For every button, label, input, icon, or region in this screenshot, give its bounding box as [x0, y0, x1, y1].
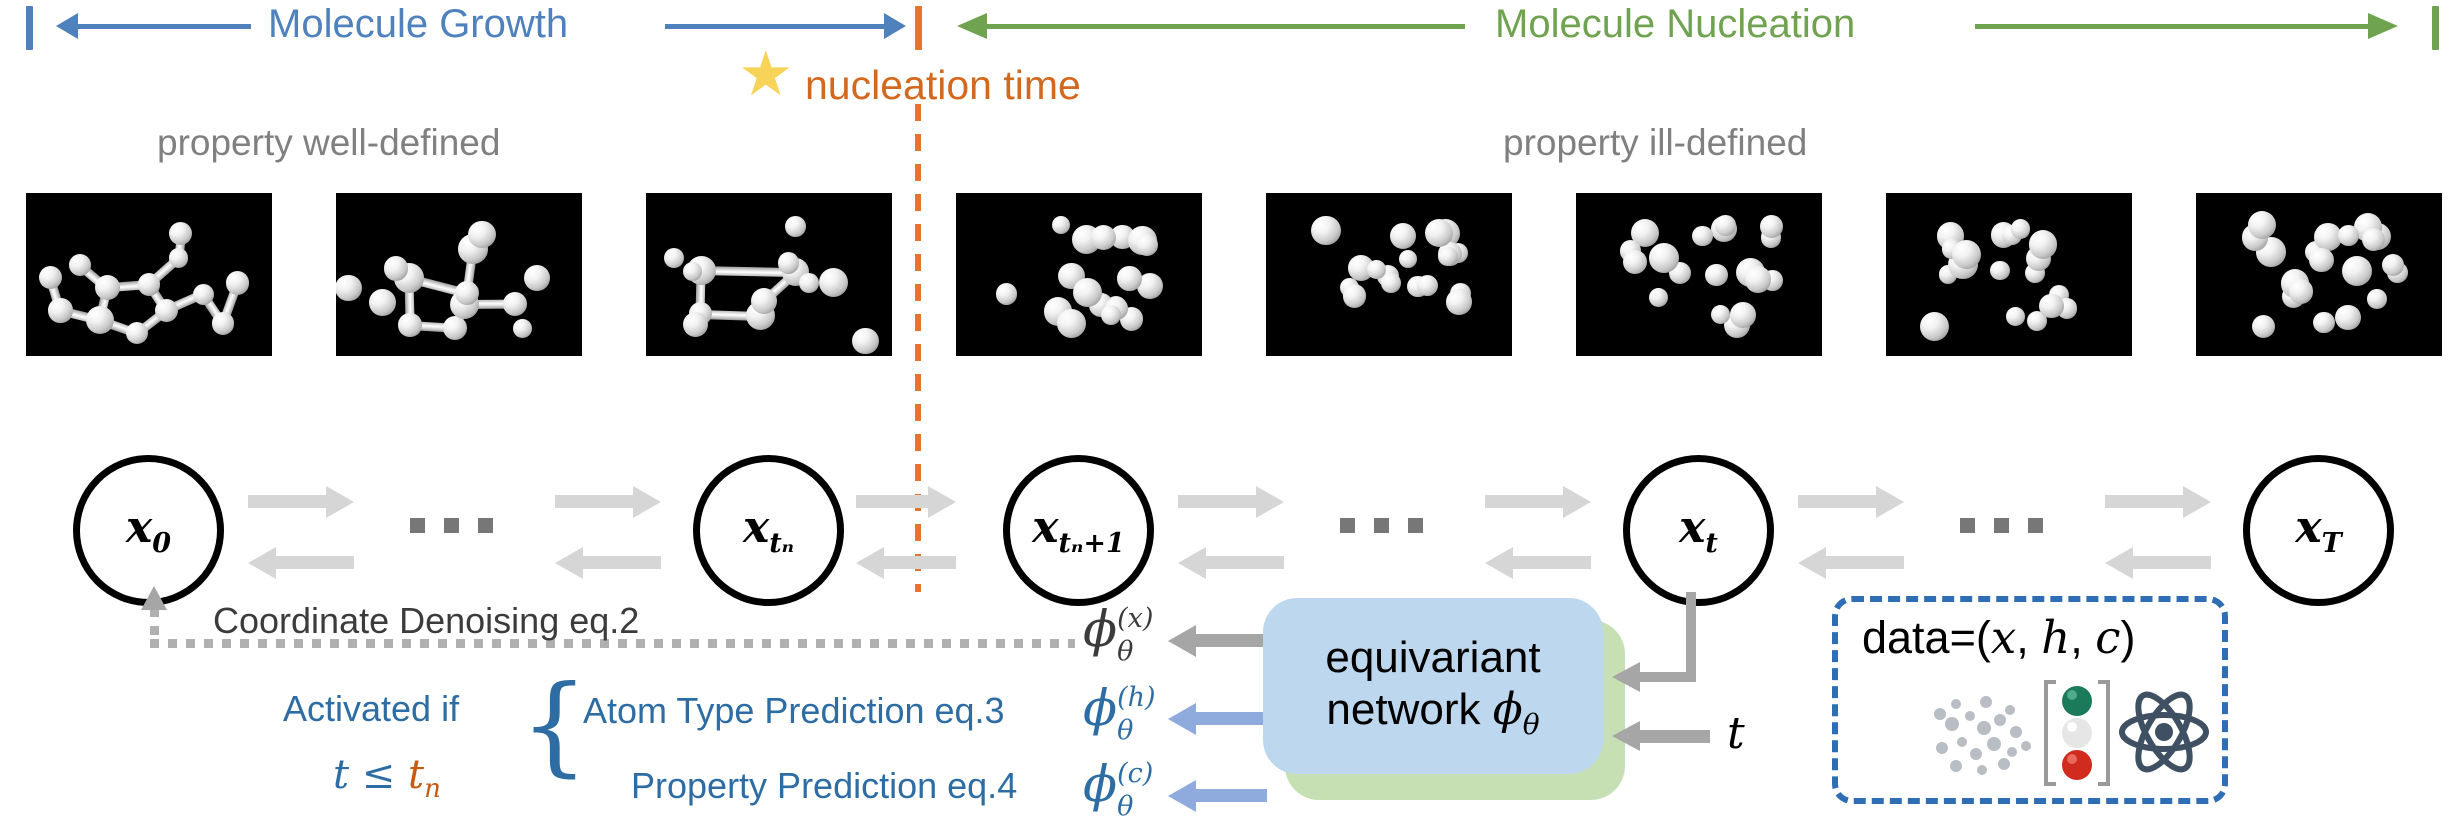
molecule-atom — [169, 248, 189, 268]
nucleation-axis-right-line — [1975, 24, 2375, 29]
data-var-h: h — [2041, 611, 2070, 664]
network-phi-symbol: ϕ — [1493, 684, 1523, 735]
output-label-coordinate-denoising: Coordinate Denoising eq.2 — [213, 600, 639, 642]
state-label-xtn1: xtₙ+1 — [1032, 502, 1124, 559]
molecule-atom — [2338, 225, 2359, 246]
arrow-xt-right-forward-head — [1876, 486, 1904, 518]
arrow-xt-left-reverse — [1513, 556, 1591, 569]
molecule-atom — [398, 313, 421, 336]
state-circle-xt[interactable]: xt — [1623, 455, 1774, 606]
molecule-panel-7 — [2196, 193, 2442, 356]
molecule-atom — [1367, 260, 1386, 279]
phi-sup-x: (x) — [1117, 605, 1153, 632]
phi-sup-h: (h) — [1117, 684, 1155, 711]
arrow-xT-left-reverse-head — [2105, 547, 2133, 579]
property-well-defined-label: property well-defined — [157, 122, 500, 164]
phi-output-property: ϕ(c)θ — [1083, 755, 1153, 824]
network-label-line2: network ϕθ — [1326, 684, 1539, 741]
molecule-atom — [138, 273, 161, 296]
molecule-atom — [1101, 305, 1121, 325]
molecule-atom — [1446, 289, 1472, 315]
molecule-atom — [2252, 315, 2275, 338]
molecule-atom — [2335, 305, 2360, 330]
phi-symbol-x: ϕ — [1083, 600, 1117, 658]
arrow-xt-right-reverse — [1826, 556, 1904, 569]
arrow-xtn1-right-reverse-head — [1178, 547, 1206, 579]
arrow-x0-right-forward-head — [326, 486, 354, 518]
growth-axis-right-arrowhead — [884, 13, 906, 39]
molecule-atom — [2367, 289, 2387, 309]
output-label-atom-type-prediction: Atom Type Prediction eq.3 — [583, 690, 1005, 732]
nucleation-time-label: nucleation time — [805, 62, 1081, 109]
arrow-xT-left-reverse — [2133, 556, 2211, 569]
output-arrowhead-property — [1168, 780, 1196, 812]
ellipsis-nucleation-right — [1960, 518, 2043, 533]
molecule-atom — [126, 322, 148, 344]
arrow-x0-right-reverse-head — [248, 547, 276, 579]
molecule-panel-2 — [646, 193, 892, 356]
data-comma-2: , — [2070, 612, 2095, 663]
molecule-atom — [2039, 294, 2063, 318]
molecule-atom — [2289, 279, 2314, 304]
molecule-atom — [1623, 250, 1647, 274]
state-circle-xtn1[interactable]: xtₙ+1 — [1003, 455, 1154, 606]
arrow-xtn-left-forward — [555, 495, 633, 508]
molecule-atom — [1990, 261, 2010, 281]
network-label-prefix: network — [1326, 685, 1492, 734]
molecule-atom — [1417, 275, 1438, 296]
molecule-atom — [2313, 312, 2335, 334]
arrow-xtn-to-xtn1-reverse-head — [856, 547, 884, 579]
molecule-atom — [785, 216, 806, 237]
arrow-xtn-to-xtn1-forward — [856, 495, 928, 508]
molecule-panel-0 — [26, 193, 272, 356]
xt-to-network-riser — [1686, 592, 1696, 682]
star-icon: ★ — [738, 44, 794, 106]
nucleation-axis-center-cap — [915, 6, 922, 50]
network-phi-sub: θ — [1523, 707, 1540, 740]
activation-label: Activated if — [283, 688, 459, 730]
molecule-atom — [1920, 312, 1949, 341]
arrow-xtn-left-forward-head — [633, 486, 661, 518]
arrow-xtn1-right-reverse — [1206, 556, 1284, 569]
network-box[interactable]: equivariant network ϕθ — [1263, 598, 1603, 774]
activation-cond-le: ≤ — [362, 752, 396, 798]
molecule-atom — [69, 254, 91, 276]
output-arrow-atomtype — [1195, 712, 1267, 725]
molecule-atom — [2006, 307, 2025, 326]
molecule-atom — [664, 248, 684, 268]
phase-label-growth: Molecule Growth — [268, 4, 568, 44]
atom-type-vector-icon — [2042, 678, 2112, 788]
molecule-atom — [86, 306, 114, 334]
molecule-atom — [2309, 248, 2333, 272]
arrow-xtn-to-xtn1-reverse — [884, 556, 956, 569]
state-sub-xtn1: tₙ+1 — [1058, 528, 1124, 559]
data-var-c: c — [2095, 611, 2120, 664]
time-input-arrowhead — [1612, 721, 1640, 751]
state-label-x0: x0 — [126, 502, 171, 559]
state-label-xT: xT — [2295, 502, 2341, 559]
molecule-atom — [2029, 230, 2057, 258]
activation-cond-tn: tn — [408, 752, 441, 798]
phi-output-coordinate: ϕ(x)θ — [1083, 600, 1153, 669]
phi-symbol-c: ϕ — [1083, 755, 1117, 813]
molecule-atom — [996, 283, 1017, 304]
state-circle-xtn[interactable]: xtₙ — [693, 455, 844, 606]
molecule-atom — [1692, 226, 1712, 246]
output-arrow-coordinate — [1195, 634, 1267, 647]
molecule-atom — [503, 292, 527, 316]
molecule-atom — [1730, 302, 1756, 328]
state-sub-xt: t — [1705, 528, 1717, 559]
state-sub-x0: 0 — [152, 528, 171, 559]
molecule-atom — [369, 289, 396, 316]
molecule-atom — [819, 268, 848, 297]
molecule-atom — [443, 316, 467, 340]
growth-axis-right-line — [665, 24, 900, 29]
molecule-atom — [1117, 266, 1141, 290]
data-title-prefix: data=( — [1862, 612, 1991, 663]
arrow-x0-right-reverse — [276, 556, 354, 569]
molecule-atom — [1311, 216, 1340, 245]
molecule-atom — [751, 288, 777, 314]
phi-sub-h: θ — [1117, 717, 1155, 744]
state-circle-xT[interactable]: xT — [2243, 455, 2394, 606]
arrow-xtn-left-reverse-head — [555, 547, 583, 579]
property-ill-defined-label: property ill-defined — [1503, 122, 1807, 164]
arrow-xt-right-forward — [1798, 495, 1876, 508]
molecule-atom — [799, 273, 819, 293]
molecule-atom — [155, 299, 178, 322]
growth-axis-left-line — [66, 24, 251, 29]
data-definition-title: data=(x, h, c) — [1862, 611, 2135, 664]
output-label-property-prediction: Property Prediction eq.4 — [631, 765, 1017, 807]
atom-orbital-icon — [2118, 686, 2210, 778]
molecule-atom — [1649, 288, 1668, 307]
arrow-xtn-left-reverse — [583, 556, 661, 569]
arrow-xtn1-right-forward-head — [1256, 486, 1284, 518]
molecule-panel-6 — [1886, 193, 2132, 356]
molecule-atom — [468, 221, 495, 248]
coordinate-feedback-riser — [150, 608, 159, 642]
time-input-arrow — [1640, 730, 1710, 743]
xt-to-network-horizontal — [1640, 672, 1696, 682]
activation-cond-t: t — [333, 752, 349, 798]
molecule-panel-4 — [1266, 193, 1512, 356]
molecule-panel-3 — [956, 193, 1202, 356]
molecule-atom — [524, 265, 550, 291]
molecule-atom — [226, 271, 250, 295]
state-sub-xT: T — [2322, 528, 2342, 559]
output-arrowhead-coordinate — [1168, 625, 1196, 657]
arrow-xT-left-forward — [2105, 495, 2183, 508]
molecule-atom — [39, 266, 62, 289]
arrow-xt-left-reverse-head — [1485, 547, 1513, 579]
molecule-atom — [1052, 216, 1070, 234]
molecule-atom — [2342, 256, 2372, 286]
molecule-atom — [1649, 243, 1679, 273]
nucleation-axis-left-line — [985, 24, 1465, 29]
arrow-x0-right-forward — [248, 495, 326, 508]
molecule-atom — [1425, 219, 1453, 247]
coordinate-feedback-arrowhead — [141, 586, 167, 610]
arrow-xtn-to-xtn1-forward-head — [928, 486, 956, 518]
arrow-xt-left-forward — [1485, 495, 1563, 508]
output-arrowhead-atomtype — [1168, 703, 1196, 735]
molecule-atom — [169, 222, 192, 245]
molecule-atom — [193, 284, 214, 305]
molecule-atom — [1381, 273, 1401, 293]
molecule-atom — [95, 275, 120, 300]
molecule-atom — [683, 312, 708, 337]
molecule-panel-5 — [1576, 193, 1822, 356]
arrow-xt-right-reverse-head — [1798, 547, 1826, 579]
molecule-atom — [513, 319, 532, 338]
state-label-xtn: xtₙ — [743, 502, 794, 559]
molecule-atom — [384, 256, 408, 280]
phase-label-nucleation: Molecule Nucleation — [1495, 4, 1855, 44]
time-input-label: t — [1727, 708, 1745, 759]
molecule-atom — [212, 312, 234, 334]
molecule-atom — [336, 275, 362, 301]
state-circle-x0[interactable]: x0 — [73, 455, 224, 606]
molecule-atom — [1715, 215, 1735, 235]
data-comma-1: , — [2016, 612, 2041, 663]
molecule-atom — [1136, 234, 1158, 256]
molecule-atom — [2248, 211, 2276, 239]
ellipsis-nucleation-mid — [1340, 518, 1423, 533]
molecule-atom — [852, 328, 878, 354]
state-sub-xtn: tₙ — [769, 528, 794, 559]
molecule-atom — [1057, 309, 1086, 338]
phi-sub-c: θ — [1117, 793, 1153, 820]
data-title-suffix: ) — [2120, 612, 2135, 663]
state-label-xt: xt — [1679, 502, 1718, 559]
molecule-panel-1 — [336, 193, 582, 356]
xt-to-network-arrowhead — [1612, 662, 1640, 692]
growth-axis-left-cap — [26, 6, 33, 50]
molecule-atom — [48, 298, 72, 322]
activation-brace: { — [520, 672, 589, 780]
nucleation-axis-right-arrowhead — [2368, 13, 2398, 39]
phi-sup-c: (c) — [1117, 760, 1153, 787]
molecule-atom — [1952, 240, 1981, 269]
nucleation-axis-right-cap — [2432, 6, 2439, 50]
network-label-line1: equivariant — [1325, 632, 1540, 684]
ellipsis-growth-left — [410, 518, 493, 533]
phi-output-atomtype: ϕ(h)θ — [1083, 679, 1156, 748]
molecule-atom — [1390, 223, 1416, 249]
molecule-atom — [1399, 250, 1418, 269]
arrow-xT-left-forward-head — [2183, 486, 2211, 518]
phi-symbol-h: ϕ — [1083, 679, 1117, 737]
molecule-atom — [1705, 264, 1727, 286]
molecule-atom — [778, 252, 800, 274]
growth-axis-left-arrowhead — [56, 13, 78, 39]
molecule-atom — [2011, 219, 2031, 239]
arrow-xt-left-forward-head — [1563, 486, 1591, 518]
point-cloud-icon — [1926, 690, 2056, 780]
molecule-atom — [1745, 266, 1771, 292]
data-var-x: x — [1991, 611, 2016, 664]
phi-sub-x: θ — [1117, 638, 1153, 665]
molecule-atom — [1343, 284, 1366, 307]
activation-condition: t ≤ tn — [333, 752, 441, 804]
arrow-xtn1-right-forward — [1178, 495, 1256, 508]
nucleation-divider — [915, 104, 921, 592]
molecule-atom — [1091, 225, 1116, 250]
nucleation-axis-left-arrowhead — [957, 13, 987, 39]
molecule-atom — [1073, 278, 1102, 307]
molecule-atom — [683, 262, 702, 281]
output-arrow-property — [1195, 789, 1267, 802]
